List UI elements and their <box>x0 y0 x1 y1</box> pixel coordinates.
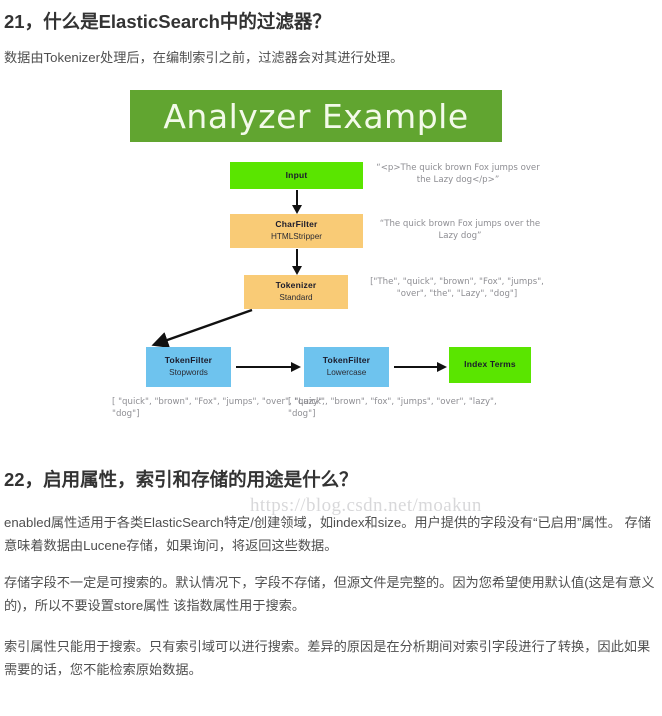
diagram-node-index-terms-title: Index Terms <box>464 360 516 370</box>
diagram-node-tokenfilter-lowercase-title: TokenFilter <box>323 356 370 366</box>
answer-paragraph-22-3: 索引属性只能用于搜索。只有索引域可以进行搜索。差异的原因是在分析期间对索引字段进… <box>4 635 656 681</box>
diagram-annotation-charfilter: “The quick brown Fox jumps over the Lazy… <box>372 218 548 243</box>
arrow-lowercase-to-index-terms-icon <box>394 366 438 368</box>
diagram-node-tokenfilter-stopwords: TokenFilter Stopwords <box>146 347 231 387</box>
diagram-annotation-lowercase: [ "quick", "brown", "fox", "jumps", "ove… <box>288 396 516 421</box>
page-title-question-22: 22，启用属性，索引和存储的用途是什么？ <box>4 466 358 492</box>
page-title-question-21: 21，什么是ElasticSearch中的过滤器？ <box>4 8 331 34</box>
diagram-annotation-tokenizer: ["The", "quick", "brown", "Fox", "jumps"… <box>362 276 552 301</box>
answer-paragraph-22-1: enabled属性适用于各类ElasticSearch特定/创建领域，如inde… <box>4 511 656 557</box>
diagram-banner-title: Analyzer Example <box>163 97 468 136</box>
diagram-node-index-terms: Index Terms <box>449 347 531 383</box>
diagram-node-charfilter: CharFilter HTMLStripper <box>230 214 363 248</box>
diagram-node-tokenfilter-stopwords-subtitle: Stopwords <box>169 368 208 377</box>
diagram-banner: Analyzer Example <box>130 90 502 142</box>
answer-paragraph-22-2: 存储字段不一定是可搜索的。默认情况下，字段不存储，但源文件是完整的。因为您希望使… <box>4 571 656 617</box>
diagram-node-input: Input <box>230 162 363 189</box>
diagram-annotation-input: “<p>The quick brown Fox jumps over the L… <box>368 162 548 187</box>
diagram-node-input-title: Input <box>286 171 308 181</box>
diagram-node-charfilter-subtitle: HTMLStripper <box>271 232 322 241</box>
diagram-node-tokenizer-title: Tokenizer <box>276 281 317 291</box>
diagram-node-charfilter-title: CharFilter <box>275 220 317 230</box>
analyzer-example-diagram: Analyzer Example Input CharFilter HTMLSt… <box>110 84 552 452</box>
diagram-node-tokenfilter-lowercase-subtitle: Lowercase <box>327 368 367 377</box>
diagram-node-tokenfilter-lowercase: TokenFilter Lowercase <box>304 347 389 387</box>
arrow-charfilter-to-tokenizer-icon <box>296 249 298 267</box>
diagram-node-tokenfilter-stopwords-title: TokenFilter <box>165 356 212 366</box>
arrow-input-to-charfilter-icon <box>296 190 298 206</box>
answer-paragraph-21: 数据由Tokenizer处理后，在编制索引之前，过滤器会对其进行处理。 <box>4 46 654 69</box>
article-page: 21，什么是ElasticSearch中的过滤器？ 数据由Tokenizer处理… <box>0 0 662 716</box>
arrow-stopwords-to-lowercase-icon <box>236 366 292 368</box>
diagram-node-tokenizer-subtitle: Standard <box>279 293 312 302</box>
diagram-node-tokenizer: Tokenizer Standard <box>244 275 348 309</box>
